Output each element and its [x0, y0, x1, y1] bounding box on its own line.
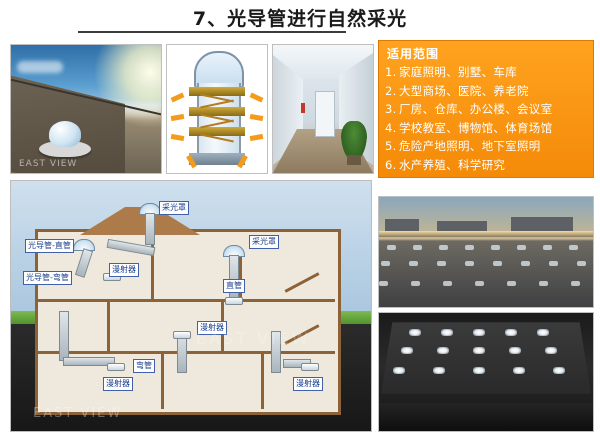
ceiling-light-icon: [437, 347, 449, 354]
dome-icon: [465, 245, 474, 250]
list-item-label: 家庭照明、别墅、车库: [399, 65, 517, 79]
sun-ray-arrow: [171, 134, 185, 141]
title-underline: [78, 31, 346, 33]
cloud-shape: [17, 61, 63, 73]
horizon-line: [379, 231, 593, 237]
dome-icon: [521, 261, 530, 266]
list-item-number: 6.: [385, 156, 399, 175]
list-item-label: 水产养殖、科学研究: [399, 158, 505, 172]
photo-watermark: EAST VIEW: [19, 159, 77, 169]
photo-corridor: [272, 44, 374, 174]
dome-icon: [517, 245, 526, 250]
wall-lower: [379, 403, 593, 431]
list-item: 6.水产养殖、科学研究: [385, 156, 591, 175]
page-title: 7、光导管进行自然采光: [0, 4, 600, 31]
diagram-label-mansheqi-3: 漫射器: [103, 377, 133, 391]
sun-ray-arrow: [171, 114, 185, 121]
dome-icon: [411, 281, 420, 286]
sun-ray-arrow: [250, 134, 264, 141]
list-item-label: 大型商场、医院、养老院: [399, 84, 529, 98]
diagram-label-mansheqi-1: 漫射器: [109, 263, 139, 277]
floor-slab: [35, 299, 335, 302]
dome-icon: [437, 261, 446, 266]
reflector-band: [189, 87, 245, 96]
diagram-label-caiguangzhao-1: 采光罩: [159, 201, 189, 215]
photo-roof-array: [378, 196, 594, 308]
list-item-label: 学校教室、博物馆、体育场馆: [399, 121, 552, 135]
list-item-number: 2.: [385, 82, 399, 101]
photo-interior-ceiling: [378, 312, 594, 432]
list-item: 5.危险产地照明、地下室照明: [385, 137, 591, 156]
slide: 7、光导管进行自然采光 EAST VIEW: [0, 0, 600, 441]
dome-icon: [539, 281, 548, 286]
ceiling-light-icon: [401, 347, 413, 354]
reflector-band: [189, 107, 245, 116]
diffuser-icon: [225, 297, 243, 305]
photo-roof-skylight: EAST VIEW: [10, 44, 162, 174]
door-shape: [315, 91, 335, 137]
building-silhouette: [511, 217, 573, 231]
ceiling-light-icon: [513, 367, 525, 374]
ceiling-light-icon: [393, 367, 405, 374]
ceiling-light-icon: [433, 367, 445, 374]
dome-icon: [381, 261, 390, 266]
ceiling-light-icon: [473, 367, 485, 374]
building-silhouette: [385, 219, 419, 231]
diagram-watermark: EAST VIEW: [33, 406, 122, 421]
dome-icon: [507, 281, 516, 286]
dome-icon: [49, 121, 81, 147]
diagram-label-caiguangzhao-2: 采光罩: [249, 235, 279, 249]
dome-icon: [493, 261, 502, 266]
dome-icon: [387, 245, 396, 250]
dome-icon: [475, 281, 484, 286]
dome-row: [379, 261, 593, 270]
application-scope-panel: 适用范围 1.家庭照明、别墅、车库 2.大型商场、医院、养老院 3.厂房、仓库、…: [378, 40, 594, 178]
ceiling-light-icon: [409, 329, 421, 336]
photo-lightpipe-cutaway: [166, 44, 268, 174]
diagram-label-guangdaoguan-zhiguan: 光导管-直管: [25, 239, 74, 253]
ceiling-light-icon: [473, 329, 485, 336]
ceiling-light-icon: [545, 347, 557, 354]
dome-icon: [543, 245, 552, 250]
dome-icon: [571, 281, 580, 286]
sun-ray-arrow: [250, 114, 264, 121]
panel-heading: 适用范围: [387, 45, 439, 62]
lightpipe-straight: [145, 213, 155, 245]
list-item-label: 危险产地照明、地下室照明: [399, 139, 541, 153]
list-item: 2.大型商场、医院、养老院: [385, 82, 591, 101]
fire-extinguisher-icon: [301, 103, 305, 113]
list-item-label: 厂房、仓库、办公楼、会议室: [399, 102, 552, 116]
list-item-number: 5.: [385, 137, 399, 156]
dome-row: [379, 245, 593, 254]
sun-ray-arrow: [250, 92, 264, 102]
diagram-label-wanguan: 弯管: [133, 359, 155, 373]
interior-wall: [107, 302, 110, 351]
list-item: 4.学校教室、博物馆、体育场馆: [385, 119, 591, 138]
dome-icon: [491, 245, 500, 250]
diffuser-icon: [301, 363, 319, 371]
diffuser-icon: [173, 331, 191, 339]
diagram-label-guangdaoguan-wanguan: 光导管-弯管: [23, 271, 72, 285]
building-section-diagram: 采光罩 采光罩 光导管-直管 光导管-弯管 漫射器 漫射器 漫射器 漫射器 直管…: [10, 180, 372, 432]
interior-wall: [161, 354, 164, 409]
list-item: 3.厂房、仓库、办公楼、会议室: [385, 100, 591, 119]
dome-row: [379, 281, 593, 290]
dome-icon: [439, 245, 448, 250]
dome-icon: [549, 261, 558, 266]
ceiling-light-icon: [553, 367, 565, 374]
list-item-number: 1.: [385, 63, 399, 82]
sun-ray-arrow: [171, 92, 185, 102]
application-list: 1.家庭照明、别墅、车库 2.大型商场、医院、养老院 3.厂房、仓库、办公楼、会…: [385, 63, 591, 174]
ceiling-light-icon: [473, 347, 485, 354]
ceiling-light-icon: [509, 347, 521, 354]
dome-icon: [413, 245, 422, 250]
dome-icon: [569, 245, 578, 250]
tube-base: [189, 153, 245, 165]
list-item-number: 4.: [385, 119, 399, 138]
interior-wall: [261, 354, 264, 409]
ceiling-light-icon: [441, 329, 453, 336]
list-item: 1.家庭照明、别墅、车库: [385, 63, 591, 82]
dome-icon: [379, 281, 388, 286]
diffuser-icon: [107, 363, 125, 371]
plant-pot: [347, 155, 361, 165]
building-silhouette: [437, 221, 487, 231]
dome-icon: [577, 261, 586, 266]
dome-icon: [409, 261, 418, 266]
lightpipe-straight: [59, 311, 69, 361]
dome-icon: [465, 261, 474, 266]
list-item-number: 3.: [385, 100, 399, 119]
reflector-band: [189, 127, 245, 136]
diagram-label-mansheqi-4: 漫射器: [293, 377, 323, 391]
diagram-watermark-secondary: EAST VIEW: [196, 329, 311, 348]
ceiling-light-icon: [505, 329, 517, 336]
dome-icon: [443, 281, 452, 286]
diagram-label-zhiguan: 直管: [223, 279, 245, 293]
ceiling-light-icon: [537, 329, 549, 336]
